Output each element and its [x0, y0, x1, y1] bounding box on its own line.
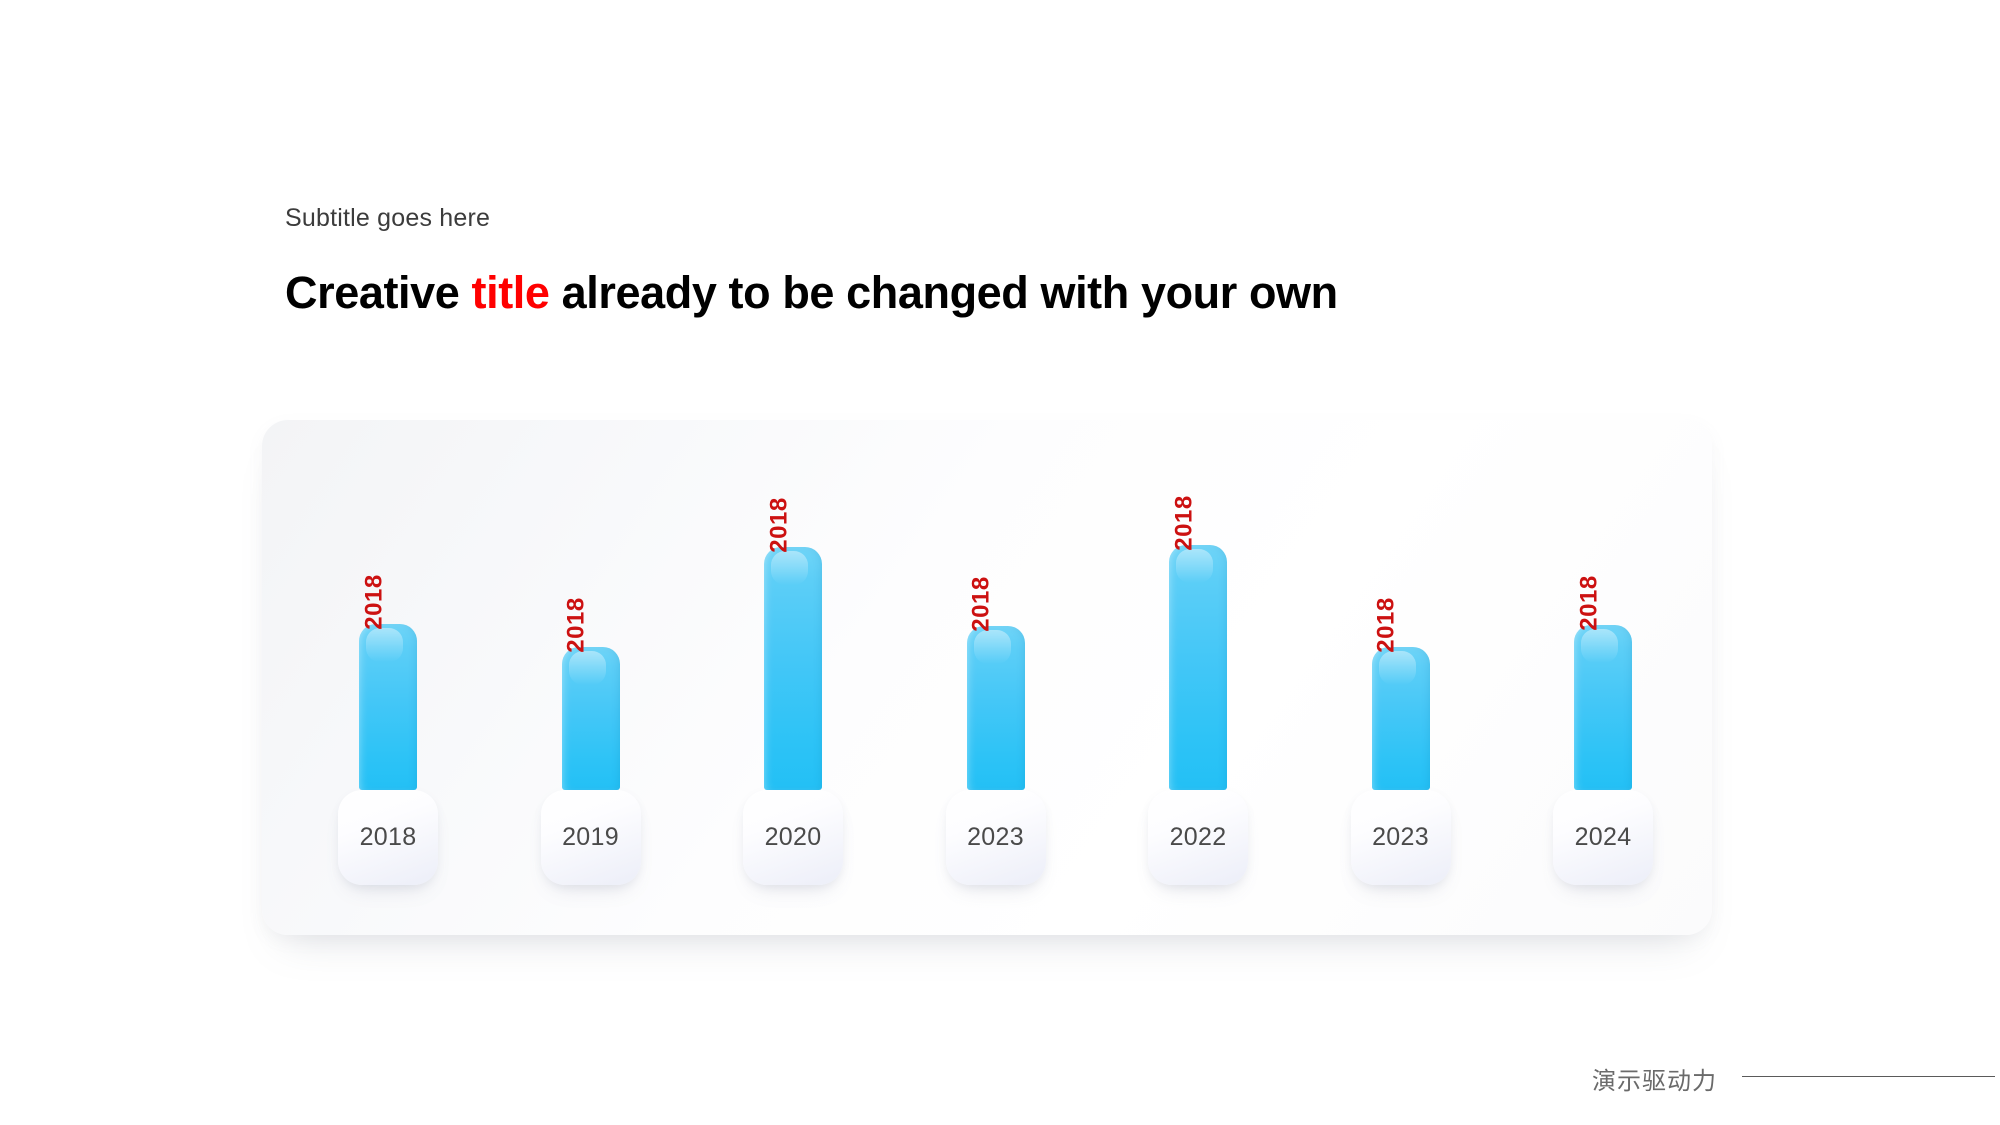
bar-pedestal[interactable]: 2020	[743, 790, 843, 885]
bar-pedestal[interactable]: 2019	[541, 790, 641, 885]
bar-value-label-text: 2018	[1576, 575, 1604, 630]
bar-column: 20232018	[1351, 485, 1451, 885]
bar-column: 20202018	[743, 485, 843, 885]
bar-column: 20192018	[541, 485, 641, 885]
bar-rect[interactable]	[562, 647, 620, 790]
bar-rect[interactable]	[764, 547, 822, 790]
bar-column: 20182018	[338, 485, 438, 885]
bar-column: 20242018	[1553, 485, 1653, 885]
title-text-before: Creative	[285, 267, 472, 318]
bar-category-label: 2023	[1372, 823, 1429, 852]
bar-pedestal[interactable]: 2022	[1148, 790, 1248, 885]
bar-rect[interactable]	[1574, 625, 1632, 790]
footer-brand-label: 演示驱动力	[1592, 1061, 1717, 1096]
bar-group[interactable]: 20232018	[1351, 485, 1451, 885]
bar-category-label: 2018	[360, 823, 417, 852]
bar-category-label: 2022	[1170, 823, 1227, 852]
slide-title: Creative title already to be changed wit…	[285, 267, 1785, 319]
bar-value-label-text: 2018	[766, 497, 794, 552]
bar-group[interactable]: 20242018	[1553, 485, 1653, 885]
bar-group[interactable]: 20202018	[743, 485, 843, 885]
bar-value-label-text: 2018	[1373, 597, 1401, 652]
bar-column: 20222018	[1148, 485, 1248, 885]
title-text-after: already to be changed with your own	[550, 267, 1338, 318]
bar-category-label: 2019	[562, 823, 619, 852]
title-accent-word: title	[472, 267, 550, 318]
bar-group[interactable]: 20232018	[946, 485, 1046, 885]
bar-value-label-text: 2018	[361, 574, 389, 629]
slide-footer: 演示驱动力	[0, 1053, 2000, 1103]
slide-header: Subtitle goes here Creative title alread…	[285, 206, 1785, 319]
footer-divider-line	[1742, 1076, 1995, 1077]
bar-group[interactable]: 20182018	[338, 485, 438, 885]
bar-pedestal[interactable]: 2023	[946, 790, 1046, 885]
bar-group[interactable]: 20192018	[541, 485, 641, 885]
bar-chart-plot: 2018201820192018202020182023201820222018…	[262, 420, 1712, 935]
bar-rect[interactable]	[359, 624, 417, 790]
bar-category-label: 2024	[1575, 823, 1632, 852]
bar-pedestal[interactable]: 2024	[1553, 790, 1653, 885]
chart-card-panel: 2018201820192018202020182023201820222018…	[262, 420, 1712, 935]
bar-group[interactable]: 20222018	[1148, 485, 1248, 885]
bar-column: 20232018	[946, 485, 1046, 885]
bar-rect[interactable]	[967, 626, 1025, 790]
bar-value-label-text: 2018	[563, 597, 591, 652]
bar-rect[interactable]	[1372, 647, 1430, 790]
slide-subtitle: Subtitle goes here	[285, 206, 1785, 231]
bar-category-label: 2023	[967, 823, 1024, 852]
bar-rect[interactable]	[1169, 545, 1227, 790]
bar-pedestal[interactable]: 2018	[338, 790, 438, 885]
bar-value-label-text: 2018	[1171, 495, 1199, 550]
bar-pedestal[interactable]: 2023	[1351, 790, 1451, 885]
bar-value-label-text: 2018	[968, 576, 996, 631]
bar-category-label: 2020	[765, 823, 822, 852]
